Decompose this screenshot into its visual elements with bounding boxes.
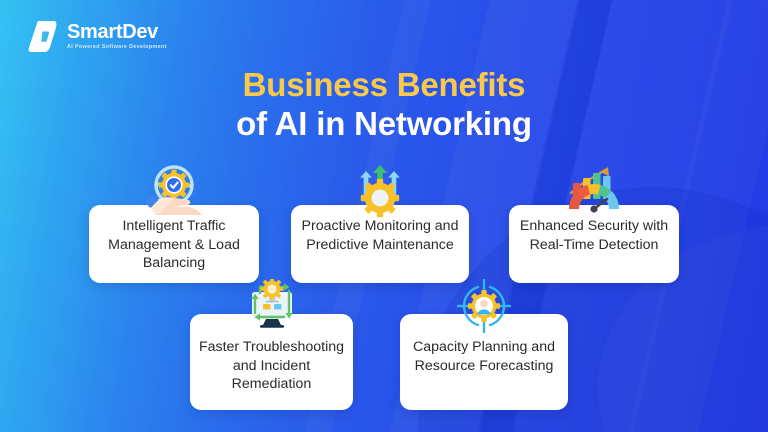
benefit-card-capacity-planning[interactable]: Capacity Planning and Resource Forecasti…	[400, 314, 568, 410]
gear-person-target-icon	[453, 279, 515, 338]
page-title-line-1: Business Benefits	[0, 66, 768, 105]
benefit-card-proactive-monitoring[interactable]: Proactive Monitoring and Predictive Main…	[291, 205, 469, 283]
page-title: Business Benefits of AI in Networking	[0, 66, 768, 144]
monitor-gear-cycle-icon	[241, 279, 303, 338]
benefit-card-faster-troubleshooting[interactable]: Faster Troubleshooting and Incident Reme…	[190, 314, 353, 410]
smartdev-logo-mark-icon	[28, 19, 58, 54]
gear-up-arrows-icon	[348, 161, 412, 224]
gear-check-on-hand-icon	[142, 161, 206, 224]
brand-logo: SmartDev AI Powered Software Development	[28, 19, 167, 54]
page-title-line-2: of AI in Networking	[0, 105, 768, 144]
benefit-card-intelligent-traffic[interactable]: Intelligent Traffic Management & Load Ba…	[89, 205, 259, 283]
gauge-bar-chart-icon	[561, 161, 627, 224]
benefit-card-enhanced-security[interactable]: Enhanced Security with Real-Time Detecti…	[509, 205, 679, 283]
brand-name: SmartDev	[67, 22, 167, 42]
brand-tagline: AI Powered Software Development	[67, 45, 167, 50]
